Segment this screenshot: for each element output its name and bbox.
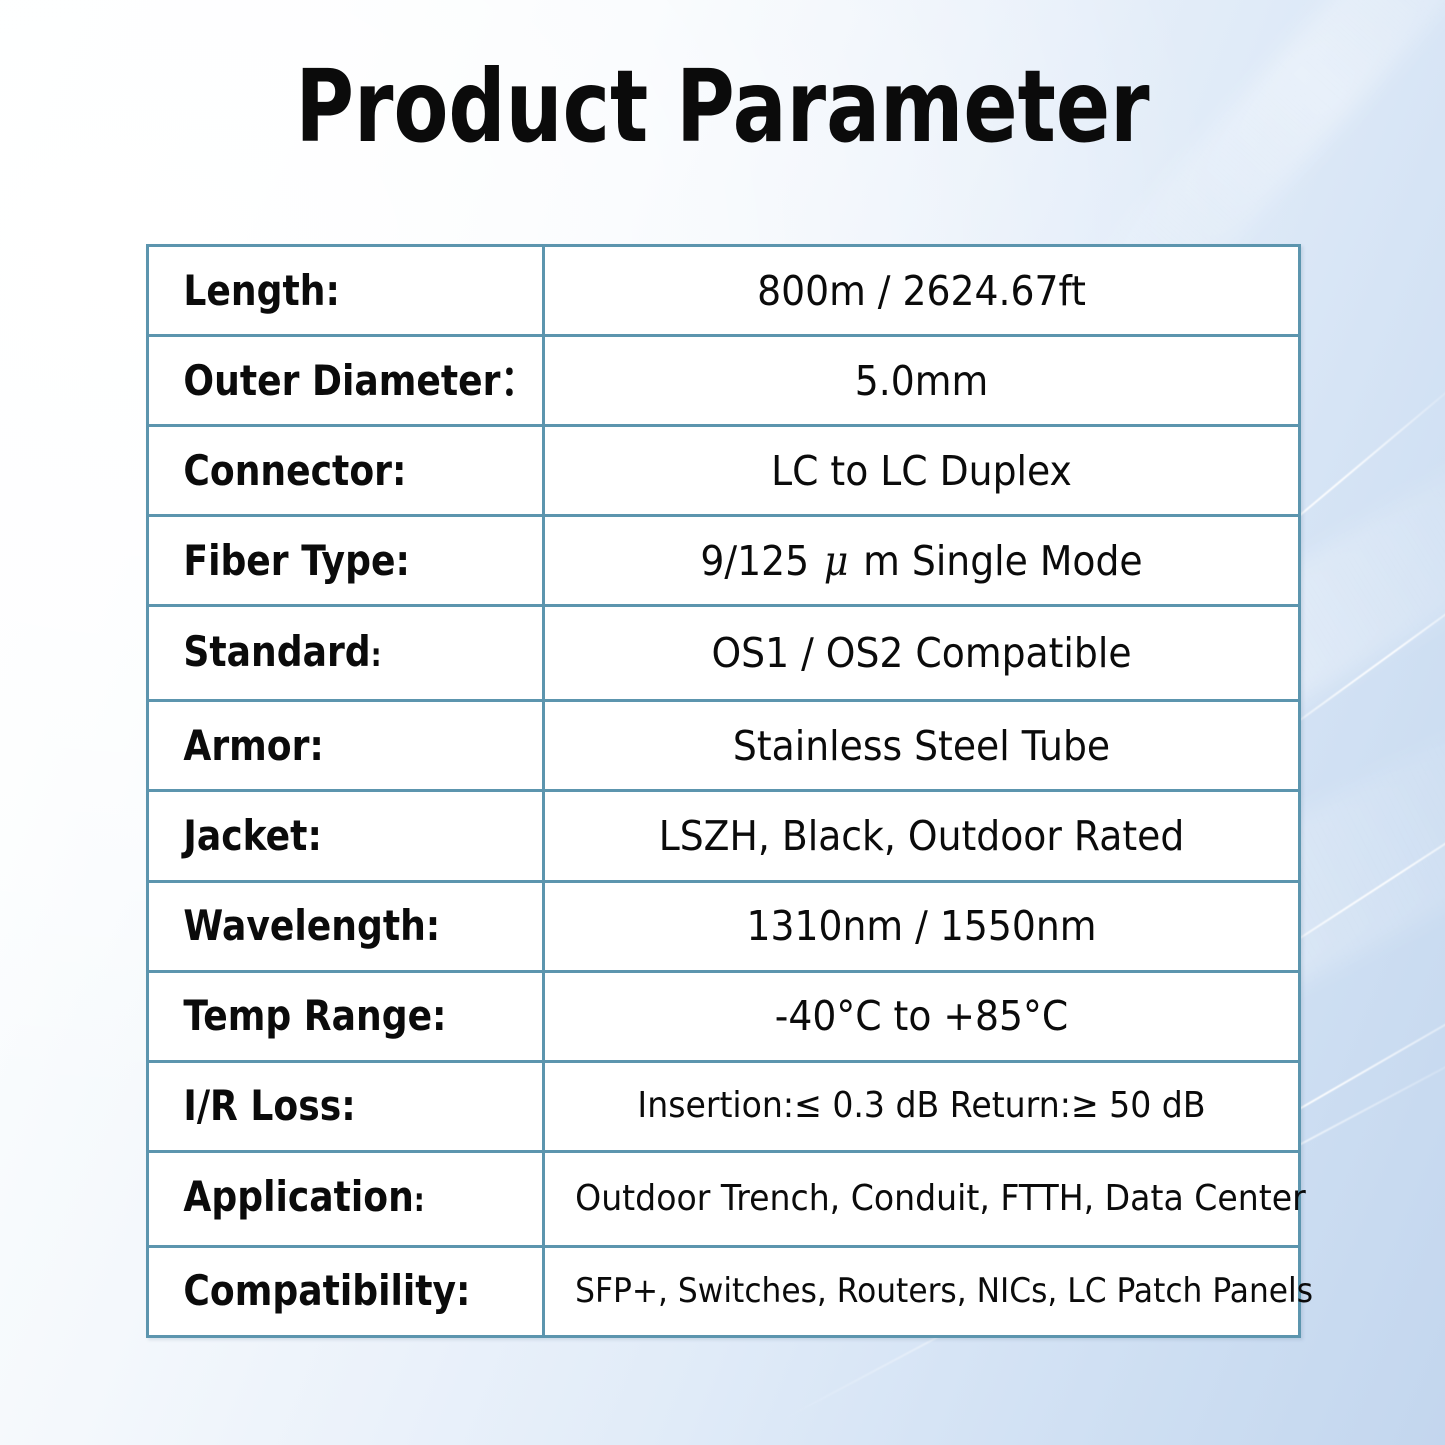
- spec-label: Wavelength:: [149, 902, 487, 950]
- table-row: Standard: OS1 / OS2 Compatible: [148, 606, 1300, 701]
- spec-value-cell: -40°C to +85°C: [544, 971, 1300, 1061]
- spec-label: Armor:: [149, 722, 487, 770]
- spec-value: OS1 / OS2 Compatible: [575, 629, 1268, 677]
- spec-label-cell: Fiber Type:: [148, 516, 544, 606]
- spec-label-cell: Wavelength:: [148, 881, 544, 971]
- table-row: Wavelength: 1310nm / 1550nm: [148, 881, 1300, 971]
- spec-value: Stainless Steel Tube: [575, 722, 1268, 770]
- spec-value-cell: LC to LC Duplex: [544, 426, 1300, 516]
- spec-label-cell: Connector:: [148, 426, 544, 516]
- spec-value: LC to LC Duplex: [575, 447, 1268, 495]
- table-row: Length: 800m / 2624.67ft: [148, 246, 1300, 336]
- micro-symbol: μ: [821, 537, 851, 585]
- spec-value: 1310nm / 1550nm: [575, 902, 1268, 950]
- spec-label-cell: I/R Loss:: [148, 1061, 544, 1151]
- table-row: Fiber Type: 9/125 μ m Single Mode: [148, 516, 1300, 606]
- spec-label: Outer Diameter：: [149, 357, 487, 405]
- spec-label: Length:: [149, 267, 487, 315]
- label-colon: :: [414, 1181, 425, 1219]
- spec-label-cell: Jacket:: [148, 791, 544, 881]
- spec-value-cell: Stainless Steel Tube: [544, 701, 1300, 791]
- spec-table-container: Length: 800m / 2624.67ft Outer Diameter：…: [146, 244, 1298, 1338]
- spec-value: SFP+, Switches, Routers, NICs, LC Patch …: [575, 1267, 1268, 1315]
- spec-value: Insertion:≤ 0.3 dB Return:≥ 50 dB: [575, 1082, 1268, 1130]
- table-row: I/R Loss: Insertion:≤ 0.3 dB Return:≥ 50…: [148, 1061, 1300, 1151]
- spec-value-cell: SFP+, Switches, Routers, NICs, LC Patch …: [544, 1246, 1300, 1336]
- spec-value: Outdoor Trench, Conduit, FTTH, Data Cent…: [575, 1175, 1268, 1223]
- label-colon: :: [371, 636, 382, 674]
- spec-value-cell: Outdoor Trench, Conduit, FTTH, Data Cent…: [544, 1151, 1300, 1246]
- spec-label-cell: Temp Range:: [148, 971, 544, 1061]
- product-parameter-page: Product Parameter Length: 800m / 2624.67…: [0, 0, 1445, 1445]
- product-parameter-table: Length: 800m / 2624.67ft Outer Diameter：…: [146, 244, 1301, 1338]
- spec-label: Temp Range:: [149, 992, 487, 1040]
- table-row: Armor: Stainless Steel Tube: [148, 701, 1300, 791]
- spec-label: Jacket:: [149, 812, 487, 860]
- page-title: Product Parameter: [145, 52, 1301, 162]
- spec-value-cell: 5.0mm: [544, 336, 1300, 426]
- spec-label-cell: Application:: [148, 1151, 544, 1246]
- spec-value: 9/125 μ m Single Mode: [575, 537, 1268, 585]
- spec-table-body: Length: 800m / 2624.67ft Outer Diameter：…: [148, 246, 1300, 1337]
- spec-value-cell: OS1 / OS2 Compatible: [544, 606, 1300, 701]
- spec-label: Fiber Type:: [149, 537, 487, 585]
- spec-value: 800m / 2624.67ft: [575, 267, 1268, 315]
- spec-value-cell: 800m / 2624.67ft: [544, 246, 1300, 336]
- spec-value: LSZH, Black, Outdoor Rated: [575, 812, 1268, 860]
- table-row: Temp Range: -40°C to +85°C: [148, 971, 1300, 1061]
- spec-value-cell: 1310nm / 1550nm: [544, 881, 1300, 971]
- table-row: Jacket: LSZH, Black, Outdoor Rated: [148, 791, 1300, 881]
- spec-value: 5.0mm: [575, 357, 1268, 405]
- spec-label: Standard:: [149, 628, 487, 679]
- spec-label: Connector:: [149, 447, 487, 495]
- spec-label: Application:: [149, 1173, 487, 1224]
- spec-value-cell: 9/125 μ m Single Mode: [544, 516, 1300, 606]
- spec-label-cell: Standard:: [148, 606, 544, 701]
- spec-label-cell: Compatibility:: [148, 1246, 544, 1336]
- spec-label: Compatibility:: [149, 1267, 487, 1315]
- spec-label-cell: Length:: [148, 246, 544, 336]
- spec-label: I/R Loss:: [149, 1082, 487, 1130]
- table-row: Compatibility: SFP+, Switches, Routers, …: [148, 1246, 1300, 1336]
- table-row: Connector: LC to LC Duplex: [148, 426, 1300, 516]
- table-row: Application: Outdoor Trench, Conduit, FT…: [148, 1151, 1300, 1246]
- spec-value-cell: LSZH, Black, Outdoor Rated: [544, 791, 1300, 881]
- spec-value-cell: Insertion:≤ 0.3 dB Return:≥ 50 dB: [544, 1061, 1300, 1151]
- table-row: Outer Diameter： 5.0mm: [148, 336, 1300, 426]
- spec-value: -40°C to +85°C: [575, 992, 1268, 1040]
- spec-label-cell: Armor:: [148, 701, 544, 791]
- spec-label-cell: Outer Diameter：: [148, 336, 544, 426]
